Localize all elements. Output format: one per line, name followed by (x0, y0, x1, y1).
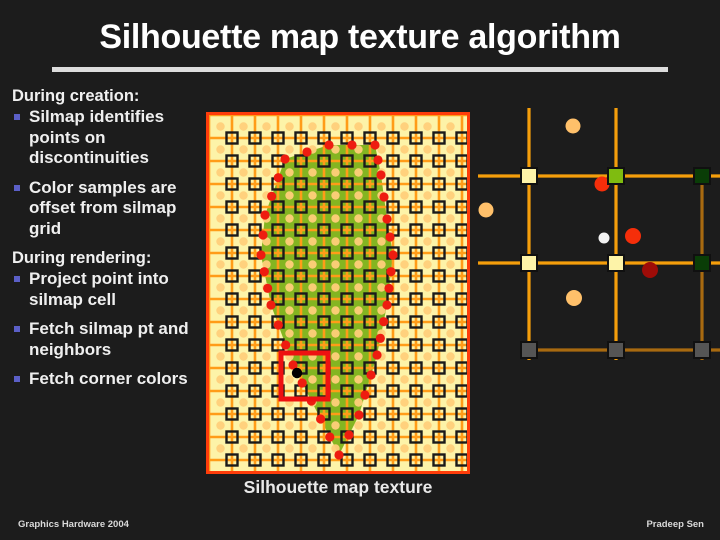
color-sample-dot (331, 398, 339, 406)
color-sample-dot (377, 444, 385, 452)
color-sample-dot (354, 375, 362, 383)
color-sample-dot (331, 421, 339, 429)
color-sample-dot (400, 237, 408, 245)
color-sample-dot (308, 237, 316, 245)
color-sample-dot (446, 191, 454, 199)
color-sample-dot (308, 214, 316, 222)
color-sample-dot (331, 191, 339, 199)
color-sample-dot (308, 421, 316, 429)
footer-conference: Graphics Hardware 2004 (18, 519, 129, 530)
color-sample-dot (308, 306, 316, 314)
silhouette-point-dot (274, 173, 283, 182)
list-item: Project point into silmap cell (10, 269, 210, 310)
color-sample-dot (423, 375, 431, 383)
color-sample-dot (262, 168, 270, 176)
silhouette-point-dot (325, 432, 334, 441)
color-sample-dot (400, 283, 408, 291)
color-sample-dot (446, 398, 454, 406)
color-sample-dot (423, 145, 431, 153)
color-sample-dot (239, 283, 247, 291)
color-sample-dot (285, 283, 293, 291)
silhouette-point-dot (274, 320, 283, 329)
silhouette-point-dot (347, 140, 356, 149)
color-sample-dot (239, 421, 247, 429)
color-sample-dot (262, 122, 270, 130)
corner-mid-middle[interactable] (608, 255, 624, 271)
color-sample-dot (331, 237, 339, 245)
color-sample-dot (239, 329, 247, 337)
color-sample-dot (239, 306, 247, 314)
color-sample-dot (354, 444, 362, 452)
color-sample-dot (377, 375, 385, 383)
color-sample-dot (446, 122, 454, 130)
title-divider (52, 67, 668, 72)
color-sample-dot (377, 398, 385, 406)
color-sample-dot (446, 329, 454, 337)
sample-orange-bottom (566, 290, 582, 306)
sample-orange-top (566, 119, 581, 134)
slide-root: Silhouette map texture algorithm During … (0, 0, 720, 540)
silmap-cell-diagram (478, 108, 720, 360)
color-sample-dot (354, 398, 362, 406)
color-sample-dot (446, 283, 454, 291)
sample-white-center (599, 233, 610, 244)
silhouette-point-dot (256, 250, 265, 259)
color-sample-dot (400, 214, 408, 222)
silhouette-point-dot (334, 450, 343, 459)
silhouette-point-dot (385, 232, 394, 241)
bullet-square-icon (14, 114, 20, 120)
list-item: Fetch corner colors (10, 369, 210, 390)
color-sample-dot (354, 122, 362, 130)
color-sample-dot (216, 352, 224, 360)
bullet-square-icon (14, 326, 20, 332)
silhouette-point-dot (316, 414, 325, 423)
color-sample-dot (400, 191, 408, 199)
color-sample-dot (423, 421, 431, 429)
corner-bottom-right[interactable] (694, 342, 710, 358)
color-sample-dot (446, 421, 454, 429)
color-sample-dot (216, 283, 224, 291)
color-sample-dot (308, 375, 316, 383)
silhouette-point-dot (382, 214, 391, 223)
color-sample-dot (216, 237, 224, 245)
color-sample-dot (400, 352, 408, 360)
color-sample-dot (400, 375, 408, 383)
color-sample-dot (285, 191, 293, 199)
corner-top-right[interactable] (694, 168, 710, 184)
color-sample-dot (331, 306, 339, 314)
color-sample-dot (331, 168, 339, 176)
color-sample-dot (446, 352, 454, 360)
bullet-square-icon (14, 185, 20, 191)
silhouette-point-dot (373, 155, 382, 164)
color-sample-dot (446, 260, 454, 268)
color-sample-dot (423, 329, 431, 337)
color-sample-dot (331, 214, 339, 222)
color-sample-dot (262, 352, 270, 360)
color-sample-dot (216, 306, 224, 314)
color-sample-dot (285, 214, 293, 222)
color-sample-dot (308, 329, 316, 337)
color-sample-dot (308, 283, 316, 291)
silhouette-point-dot (366, 370, 375, 379)
color-sample-dot (285, 122, 293, 130)
color-sample-dot (446, 168, 454, 176)
color-sample-dot (400, 260, 408, 268)
silhouette-point-dot (388, 250, 397, 259)
silhouette-point-dot (298, 378, 307, 387)
silhouette-point-dot (280, 154, 289, 163)
projected-point-dot (292, 368, 302, 378)
color-sample-dot (285, 375, 293, 383)
sample-red-center (625, 228, 641, 244)
color-sample-dot (331, 329, 339, 337)
silhouette-point-dot (324, 140, 333, 149)
color-sample-dot (446, 375, 454, 383)
color-sample-dot (400, 306, 408, 314)
color-sample-dot (239, 375, 247, 383)
bullet-square-icon (14, 276, 20, 282)
color-sample-dot (423, 191, 431, 199)
color-sample-dot (216, 421, 224, 429)
color-sample-dot (331, 260, 339, 268)
silhouette-point-dot (281, 340, 290, 349)
color-sample-dot (308, 122, 316, 130)
color-sample-dot (239, 191, 247, 199)
silhouette-point-dot (376, 334, 385, 343)
list-item: Color samples are offset from silmap gri… (10, 178, 210, 240)
color-sample-dot (377, 260, 385, 268)
color-sample-dot (354, 421, 362, 429)
bullet-column: During creation: Silmap identifies point… (10, 86, 210, 399)
color-sample-dot (423, 352, 431, 360)
color-sample-dot (400, 168, 408, 176)
section-heading-rendering: During rendering: (12, 248, 210, 268)
color-sample-dot (446, 214, 454, 222)
color-sample-dot (400, 329, 408, 337)
silhouette-point-dot (354, 410, 363, 419)
color-sample-dot (400, 122, 408, 130)
bullet-square-icon (14, 376, 20, 382)
color-sample-dot (400, 444, 408, 452)
color-sample-dot (446, 306, 454, 314)
color-sample-dot (262, 329, 270, 337)
color-sample-dot (308, 260, 316, 268)
color-sample-dot (400, 398, 408, 406)
color-sample-dot (216, 329, 224, 337)
silmap-cell-canvas (478, 108, 720, 360)
color-sample-dot (239, 352, 247, 360)
color-sample-dot (285, 168, 293, 176)
silhouette-point-dot (260, 210, 269, 219)
color-sample-dot (239, 444, 247, 452)
silhouette-point-dot (258, 230, 267, 239)
color-sample-dot (354, 191, 362, 199)
color-sample-dot (423, 283, 431, 291)
color-sample-dot (262, 398, 270, 406)
color-sample-dot (423, 444, 431, 452)
color-sample-dot (446, 237, 454, 245)
color-sample-dot (354, 168, 362, 176)
texture-content (209, 115, 468, 471)
corner-bottom-left[interactable] (521, 342, 537, 358)
color-sample-dot (285, 260, 293, 268)
color-sample-dot (354, 306, 362, 314)
color-sample-dot (285, 329, 293, 337)
color-sample-dot (354, 214, 362, 222)
color-sample-dot (216, 214, 224, 222)
color-sample-dot (354, 260, 362, 268)
silhouette-point-dot (379, 317, 388, 326)
texture-canvas (206, 112, 470, 474)
color-sample-dot (239, 122, 247, 130)
color-sample-dot (239, 398, 247, 406)
silhouette-point-dot (260, 267, 269, 276)
color-sample-dot (400, 145, 408, 153)
color-sample-dot (216, 398, 224, 406)
color-sample-dot (216, 375, 224, 383)
color-sample-dot (377, 421, 385, 429)
silhouette-map-texture-figure (206, 112, 470, 474)
color-sample-dot (331, 352, 339, 360)
color-sample-dot (423, 214, 431, 222)
color-sample-dot (285, 421, 293, 429)
corner-mid-left[interactable] (521, 255, 537, 271)
color-sample-dot (377, 283, 385, 291)
corner-mid-right[interactable] (694, 255, 710, 271)
color-sample-dot (216, 191, 224, 199)
list-item: Fetch silmap pt and neighbors (10, 319, 210, 360)
color-sample-dot (216, 444, 224, 452)
silhouette-point-dot (360, 390, 369, 399)
list-item-label: Color samples are offset from silmap gri… (29, 178, 176, 238)
color-sample-dot (262, 375, 270, 383)
color-sample-dot (239, 260, 247, 268)
color-sample-dot (423, 122, 431, 130)
color-sample-dot (262, 421, 270, 429)
color-sample-dot (354, 237, 362, 245)
color-sample-dot (216, 145, 224, 153)
sample-darkred-lower (642, 262, 658, 278)
color-sample-dot (285, 444, 293, 452)
color-sample-dot (377, 122, 385, 130)
color-sample-dot (239, 237, 247, 245)
silhouette-point-dot (379, 192, 388, 201)
color-sample-dot (262, 145, 270, 153)
color-sample-dot (377, 237, 385, 245)
list-item-label: Silmap identifies points on discontinuit… (29, 107, 164, 167)
color-sample-dot (285, 145, 293, 153)
color-sample-dot (239, 214, 247, 222)
color-sample-dot (308, 444, 316, 452)
color-sample-dot (308, 191, 316, 199)
silhouette-point-dot (263, 284, 272, 293)
silhouette-point-dot (302, 147, 311, 156)
corner-top-middle[interactable] (608, 168, 624, 184)
color-sample-dot (400, 421, 408, 429)
color-sample-dot (216, 168, 224, 176)
list-item-label: Fetch corner colors (29, 369, 188, 388)
silhouette-point-dot (382, 300, 391, 309)
silhouette-point-dot (376, 170, 385, 179)
color-sample-dot (423, 398, 431, 406)
silhouette-point-dot (372, 350, 381, 359)
silhouette-point-dot (386, 267, 395, 276)
corner-top-left[interactable] (521, 168, 537, 184)
color-sample-dot (216, 122, 224, 130)
color-sample-dot (239, 168, 247, 176)
color-sample-dot (423, 306, 431, 314)
color-sample-dot (354, 283, 362, 291)
silhouette-point-dot (267, 192, 276, 201)
footer-author: Pradeep Sen (646, 519, 704, 530)
color-sample-dot (423, 260, 431, 268)
page-title: Silhouette map texture algorithm (0, 18, 720, 57)
color-sample-dot (446, 444, 454, 452)
silhouette-point-dot (266, 300, 275, 309)
list-item-label: Project point into silmap cell (29, 269, 169, 309)
color-sample-dot (331, 375, 339, 383)
figure-caption: Silhouette map texture (196, 477, 480, 498)
color-sample-dot (285, 306, 293, 314)
color-sample-dot (262, 444, 270, 452)
sample-orange-left (479, 203, 494, 218)
color-sample-dot (239, 145, 247, 153)
list-item: Silmap identifies points on discontinuit… (10, 107, 210, 169)
color-sample-dot (285, 237, 293, 245)
color-sample-dot (423, 168, 431, 176)
silhouette-point-dot (344, 430, 353, 439)
corner-bottom-middle[interactable] (608, 342, 624, 358)
color-sample-dot (354, 329, 362, 337)
silhouette-point-dot (370, 140, 379, 149)
color-sample-dot (446, 145, 454, 153)
silhouette-point-dot (384, 284, 393, 293)
color-sample-dot (308, 168, 316, 176)
color-sample-dot (331, 283, 339, 291)
list-item-label: Fetch silmap pt and neighbors (29, 319, 189, 359)
color-sample-dot (354, 352, 362, 360)
section-heading-creation: During creation: (12, 86, 210, 106)
color-sample-dot (423, 237, 431, 245)
color-sample-dot (216, 260, 224, 268)
color-sample-dot (331, 122, 339, 130)
